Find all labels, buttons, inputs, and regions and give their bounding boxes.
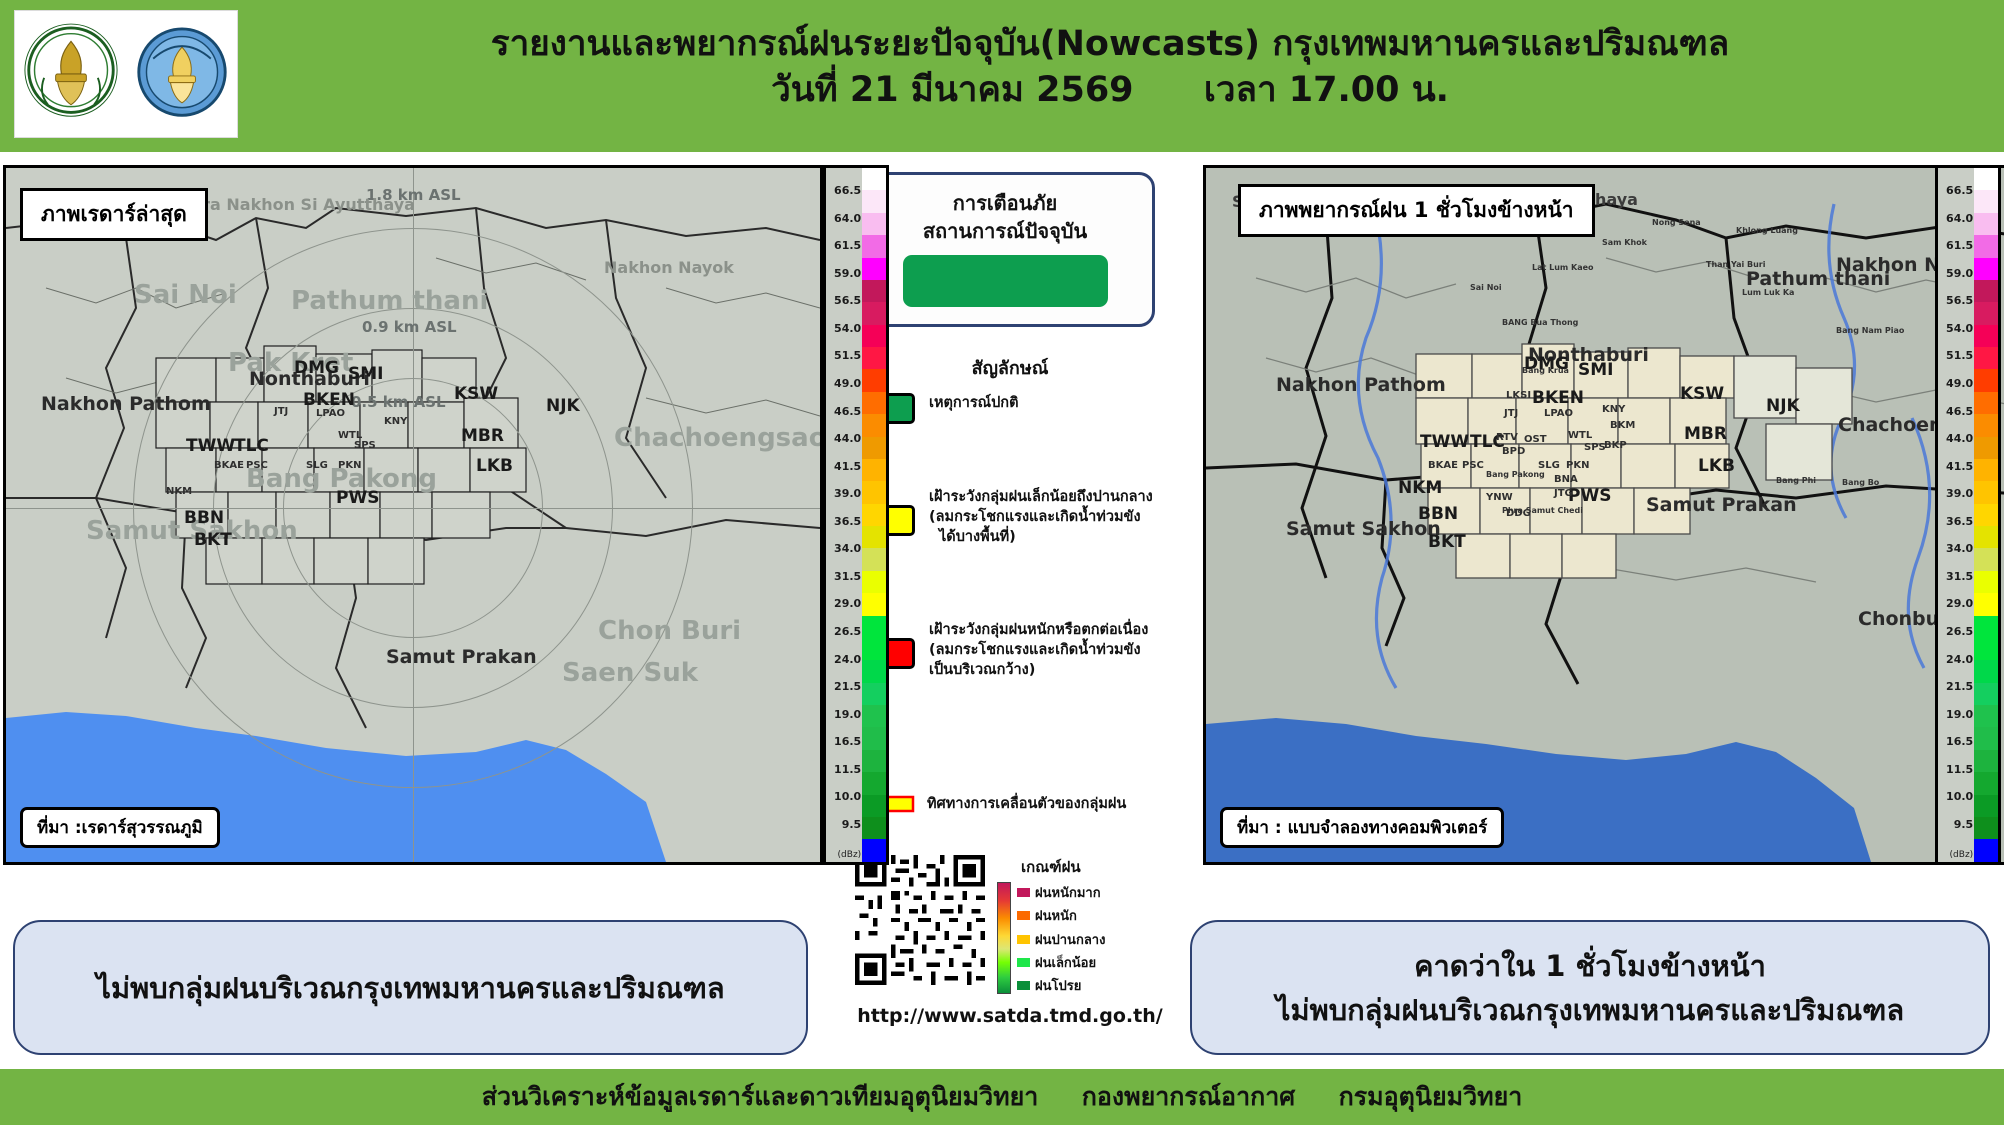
rain-chip-very-heavy <box>1017 888 1030 897</box>
rain-chip-light <box>1017 958 1030 967</box>
dbz-tick: 34.0 <box>834 544 861 554</box>
footer-part2: กองพยากรณ์อากาศ <box>1082 1082 1295 1111</box>
dbz-color-segment <box>862 660 886 682</box>
dbz-color-segment <box>1974 705 1998 727</box>
dbz-tick: 24.0 <box>1946 655 1973 665</box>
dbz-tick: 34.0 <box>1946 544 1973 554</box>
legend-item-moderate: เฝ้าระวังกลุ่มฝนเล็กน้อยถึงปานกลาง (ลมกร… <box>853 487 1153 547</box>
legend-item-movement: ทิศทางการเคลื่อนตัวของกลุ่มฝน <box>853 785 1126 823</box>
dbz-tick: 31.5 <box>834 572 861 582</box>
warning-status-indicator <box>903 255 1108 307</box>
forecast-panel-title: ภาพพยากรณ์ฝน 1 ชั่วโมงข้างหน้า <box>1238 184 1595 237</box>
page-footer: ส่วนวิเคราะห์ข้อมูลเรดาร์และดาวเทียมอุตุ… <box>0 1069 2004 1125</box>
dbz-color-segment <box>862 235 886 257</box>
dbz-tick: 16.5 <box>1946 737 1973 747</box>
footer-part1: ส่วนวิเคราะห์ข้อมูลเรดาร์และดาวเทียมอุตุ… <box>482 1082 1039 1111</box>
dbz-color-bar-right <box>1974 168 1998 862</box>
nowcast-page: รายงานและพยากรณ์ฝนระยะปัจจุบัน(Nowcasts)… <box>0 0 2004 1125</box>
page-title: รายงานและพยากรณ์ฝนระยะปัจจุบัน(Nowcasts)… <box>260 22 1960 66</box>
dbz-color-segment <box>1974 437 1998 459</box>
rain-level-label: ฝนหนัก <box>1035 905 1077 926</box>
dbz-color-segment <box>862 302 886 324</box>
dbz-color-segment <box>862 705 886 727</box>
dbz-color-segment <box>1974 727 1998 749</box>
dbz-tick: 11.5 <box>834 765 861 775</box>
dbz-color-segment <box>862 325 886 347</box>
rain-chip-heavy <box>1017 911 1030 920</box>
dbz-unit-label: (dBz) <box>838 850 862 860</box>
summary-line: ไม่พบกลุ่มฝนบริเวณกรุงเทพมหานครและปริมณฑ… <box>1276 988 1904 1032</box>
dbz-tick: 10.0 <box>1946 792 1973 802</box>
dbz-color-segment <box>1974 839 1998 861</box>
dbz-color-segment <box>862 683 886 705</box>
dbz-color-segment <box>1974 168 1998 190</box>
dbz-tick: 21.5 <box>834 682 861 692</box>
dbz-color-segment <box>1974 795 1998 817</box>
dbz-tick: 61.5 <box>834 241 861 251</box>
dbz-tick: 59.0 <box>834 269 861 279</box>
dbz-tick: 9.5 <box>842 820 862 830</box>
legend-line: เฝ้าระวังกลุ่มฝนเล็กน้อยถึงปานกลาง <box>929 489 1153 505</box>
dbz-color-segment <box>862 258 886 280</box>
dbz-color-segment <box>1974 548 1998 570</box>
summary-line: คาดว่าใน 1 ชั่วโมงข้างหน้า <box>1414 944 1766 988</box>
rain-level-label: ฝนหนักมาก <box>1035 882 1101 903</box>
dbz-tick: 54.0 <box>834 324 861 334</box>
dbz-tick: 19.0 <box>834 710 861 720</box>
rain-scale-body: ฝนหนักมาก ฝนหนัก ฝนปานกลาง <box>997 882 1177 996</box>
legend-line: เป็นบริเวณกว้าง) <box>929 662 1035 678</box>
dbz-tick: 46.5 <box>834 407 861 417</box>
legend-line: (ลมกระโชกแรงและเกิดน้ำท่วมขัง <box>929 509 1141 525</box>
dbz-color-segment <box>862 213 886 235</box>
dbz-tick: 36.5 <box>1946 517 1973 527</box>
dbz-color-segment <box>1974 571 1998 593</box>
dbz-color-segment <box>1974 638 1998 660</box>
legend-label-moderate: เฝ้าระวังกลุ่มฝนเล็กน้อยถึงปานกลาง (ลมกร… <box>929 487 1153 547</box>
dbz-tick: 16.5 <box>834 737 861 747</box>
dbz-color-segment <box>1974 504 1998 526</box>
header-datetime: วันที่ 21 มีนาคม 2569 เวลา 17.00 น. <box>260 66 1960 114</box>
dbz-tick: 39.0 <box>1946 489 1973 499</box>
dbz-tick: 61.5 <box>1946 241 1973 251</box>
warning-status-box: การเตือนภัย สถานการณ์ปัจจุบัน <box>855 172 1155 327</box>
dbz-color-segment <box>1974 817 1998 839</box>
dbz-color-segment <box>1974 369 1998 391</box>
dbz-color-segment <box>862 526 886 548</box>
dbz-color-segment <box>862 437 886 459</box>
dbz-color-segment <box>862 347 886 369</box>
dbz-color-scale-left: 66.564.061.559.056.554.051.549.046.544.0… <box>823 165 889 865</box>
legend-label-movement: ทิศทางการเคลื่อนตัวของกลุ่มฝน <box>927 794 1126 814</box>
legend-item-heavy: เฝ้าระวังกลุ่มฝนหนักหรือตกต่อเนื่อง (ลมก… <box>853 620 1148 680</box>
dbz-tick: 51.5 <box>1946 351 1973 361</box>
dbz-tick: 41.5 <box>834 462 861 472</box>
rain-scale-items: ฝนหนักมาก ฝนหนัก ฝนปานกลาง <box>1017 882 1105 996</box>
header-time: เวลา 17.00 น. <box>1204 70 1449 110</box>
dbz-color-segment <box>1974 526 1998 548</box>
warning-title-line2: สถานการณ์ปัจจุบัน <box>923 217 1087 245</box>
rain-level-label: ฝนโปรย <box>1035 975 1081 996</box>
rain-level-light: ฝนเล็กน้อย <box>1017 952 1105 973</box>
rain-scale-title: เกณฑ์ฝน <box>1021 855 1177 879</box>
dbz-tick: 49.0 <box>1946 379 1973 389</box>
rain-level-label: ฝนเล็กน้อย <box>1035 952 1096 973</box>
qr-code-icon[interactable] <box>855 855 985 985</box>
dbz-tick: 24.0 <box>834 655 861 665</box>
dbz-tick: 44.0 <box>834 434 861 444</box>
legend-line: เหตุการณ์ปกติ <box>929 395 1019 411</box>
dbz-color-segment <box>862 795 886 817</box>
dbz-tick: 64.0 <box>834 214 861 224</box>
website-url[interactable]: http://www.satda.tmd.go.th/ <box>845 1005 1175 1027</box>
radar-map-panel[interactable]: 1.8 km ASL 0.9 km ASL 0.5 km ASL Suphan … <box>3 165 823 865</box>
dbz-color-segment <box>862 750 886 772</box>
dbz-tick: 64.0 <box>1946 214 1973 224</box>
body-area: 1.8 km ASL 0.9 km ASL 0.5 km ASL Suphan … <box>0 152 2004 1069</box>
tmd-royal-seal-icon <box>23 19 119 129</box>
radar-map-canvas[interactable]: 1.8 km ASL 0.9 km ASL 0.5 km ASL Suphan … <box>6 168 820 862</box>
dbz-tick: 56.5 <box>834 296 861 306</box>
dbz-color-segment <box>1974 280 1998 302</box>
dbz-color-segment <box>862 616 886 638</box>
radar-crosshair-vertical <box>413 168 414 862</box>
rain-level-label: ฝนปานกลาง <box>1035 929 1105 950</box>
dbz-color-segment <box>862 392 886 414</box>
legend-label-heavy: เฝ้าระวังกลุ่มฝนหนักหรือตกต่อเนื่อง (ลมก… <box>929 620 1148 680</box>
legend-column: การเตือนภัย สถานการณ์ปัจจุบัน สัญลักษณ์ … <box>845 165 1175 1065</box>
summary-box-forecast: คาดว่าใน 1 ชั่วโมงข้างหน้า ไม่พบกลุ่มฝนบ… <box>1190 920 1990 1055</box>
rain-level-drizzle: ฝนโปรย <box>1017 975 1105 996</box>
dbz-color-segment <box>862 190 886 212</box>
radar-panel-title: ภาพเรดาร์ล่าสุด <box>20 188 208 241</box>
legend-label-normal: เหตุการณ์ปกติ <box>929 393 1019 413</box>
dbz-tick: 19.0 <box>1946 710 1973 720</box>
dbz-color-segment <box>1974 325 1998 347</box>
dbz-color-segment <box>862 369 886 391</box>
dbz-tick: 36.5 <box>834 517 861 527</box>
dbz-tick: 26.5 <box>834 627 861 637</box>
page-header: รายงานและพยากรณ์ฝนระยะปัจจุบัน(Nowcasts)… <box>0 0 2004 152</box>
dbz-color-segment <box>862 459 886 481</box>
dbz-color-segment <box>1974 302 1998 324</box>
dbz-tick: 39.0 <box>834 489 861 499</box>
dbz-tick: 26.5 <box>1946 627 1973 637</box>
rain-level-moderate: ฝนปานกลาง <box>1017 929 1105 950</box>
dbz-tick: 9.5 <box>1954 820 1974 830</box>
dbz-color-segment <box>862 481 886 503</box>
dbz-tick: 11.5 <box>1946 765 1973 775</box>
dbz-tick: 29.0 <box>1946 599 1973 609</box>
dbz-tick-labels-left: 66.564.061.559.056.554.051.549.046.544.0… <box>826 168 862 862</box>
forecast-map-canvas[interactable]: Suphan Buri Phra Nakhon Si Ayutthaya Non… <box>1206 168 2004 862</box>
dbz-color-segment <box>1974 213 1998 235</box>
dbz-tick: 66.5 <box>1946 186 1973 196</box>
dbz-color-bar-left <box>862 168 886 862</box>
dbz-tick: 56.5 <box>1946 296 1973 306</box>
dbz-tick: 41.5 <box>1946 462 1973 472</box>
dbz-color-segment <box>1974 750 1998 772</box>
dbz-color-segment <box>1974 660 1998 682</box>
dbz-tick: 51.5 <box>834 351 861 361</box>
footer-text: ส่วนวิเคราะห์ข้อมูลเรดาร์และดาวเทียมอุตุ… <box>482 1077 1523 1117</box>
dbz-color-segment <box>1974 772 1998 794</box>
legend-heading: สัญลักษณ์ <box>845 353 1175 382</box>
dbz-color-segment <box>862 548 886 570</box>
rain-level-heavy: ฝนหนัก <box>1017 905 1105 926</box>
dbz-color-segment <box>1974 616 1998 638</box>
agency-logos <box>14 10 238 138</box>
dbz-color-segment <box>862 571 886 593</box>
dbz-color-segment <box>862 593 886 615</box>
dbz-tick: 21.5 <box>1946 682 1973 692</box>
dbz-tick: 49.0 <box>834 379 861 389</box>
dbz-color-segment <box>862 414 886 436</box>
dbz-color-segment <box>862 638 886 660</box>
forecast-panel-source: ที่มา : แบบจำลองทางคอมพิวเตอร์ <box>1220 807 1504 848</box>
warning-title-line1: การเตือนภัย <box>953 189 1058 217</box>
dbz-tick: 29.0 <box>834 599 861 609</box>
dbz-color-segment <box>862 727 886 749</box>
legend-line: (ลมกระโชกแรงและเกิดน้ำท่วมขัง <box>929 642 1141 658</box>
forecast-map-panel[interactable]: Suphan Buri Phra Nakhon Si Ayutthaya Non… <box>1203 165 2004 865</box>
dbz-color-segment <box>1974 593 1998 615</box>
dbz-tick: 54.0 <box>1946 324 1973 334</box>
legend-line: ได้บางพื้นที่) <box>929 527 1153 547</box>
bangkok-district-grid <box>1206 168 2004 862</box>
dbz-color-segment <box>862 504 886 526</box>
summary-line: ไม่พบกลุ่มฝนบริเวณกรุงเทพมหานครและปริมณฑ… <box>96 966 724 1010</box>
rain-chip-drizzle <box>1017 981 1030 990</box>
dbz-color-segment <box>1974 235 1998 257</box>
header-date: วันที่ 21 มีนาคม 2569 <box>771 70 1133 110</box>
dbz-color-segment <box>1974 459 1998 481</box>
summary-box-current: ไม่พบกลุ่มฝนบริเวณกรุงเทพมหานครและปริมณฑ… <box>13 920 808 1055</box>
rain-level-very-heavy: ฝนหนักมาก <box>1017 882 1105 903</box>
dbz-color-segment <box>862 280 886 302</box>
dbz-tick: 66.5 <box>834 186 861 196</box>
header-titles: รายงานและพยากรณ์ฝนระยะปัจจุบัน(Nowcasts)… <box>260 22 1960 114</box>
dbz-tick: 44.0 <box>1946 434 1973 444</box>
dbz-color-segment <box>1974 683 1998 705</box>
dbz-color-segment <box>1974 347 1998 369</box>
radar-panel-source: ที่มา :เรดาร์สุวรรณภูมิ <box>20 807 220 848</box>
rain-gradient-bar <box>997 882 1011 994</box>
dbz-color-scale-right: 66.564.061.559.056.554.051.549.046.544.0… <box>1935 165 2001 865</box>
tmd-department-seal-icon <box>134 19 230 129</box>
dbz-color-segment <box>1974 481 1998 503</box>
dbz-color-segment <box>1974 190 1998 212</box>
dbz-color-segment <box>862 168 886 190</box>
legend-line: เฝ้าระวังกลุ่มฝนหนักหรือตกต่อเนื่อง <box>929 622 1148 638</box>
dbz-tick: 46.5 <box>1946 407 1973 417</box>
dbz-tick-labels-right: 66.564.061.559.056.554.051.549.046.544.0… <box>1938 168 1974 862</box>
dbz-color-segment <box>1974 392 1998 414</box>
dbz-color-segment <box>1974 414 1998 436</box>
dbz-unit-label: (dBz) <box>1950 850 1974 860</box>
dbz-color-segment <box>862 817 886 839</box>
dbz-tick: 59.0 <box>1946 269 1973 279</box>
dbz-color-segment <box>862 839 886 861</box>
dbz-tick: 10.0 <box>834 792 861 802</box>
dbz-color-segment <box>1974 258 1998 280</box>
footer-part3: กรมอุตุนิยมวิทยา <box>1339 1082 1523 1111</box>
rain-chip-moderate <box>1017 935 1030 944</box>
dbz-tick: 31.5 <box>1946 572 1973 582</box>
rain-intensity-scale: เกณฑ์ฝน ฝนหนักมาก ฝนหนัก <box>997 855 1177 996</box>
dbz-color-segment <box>862 772 886 794</box>
